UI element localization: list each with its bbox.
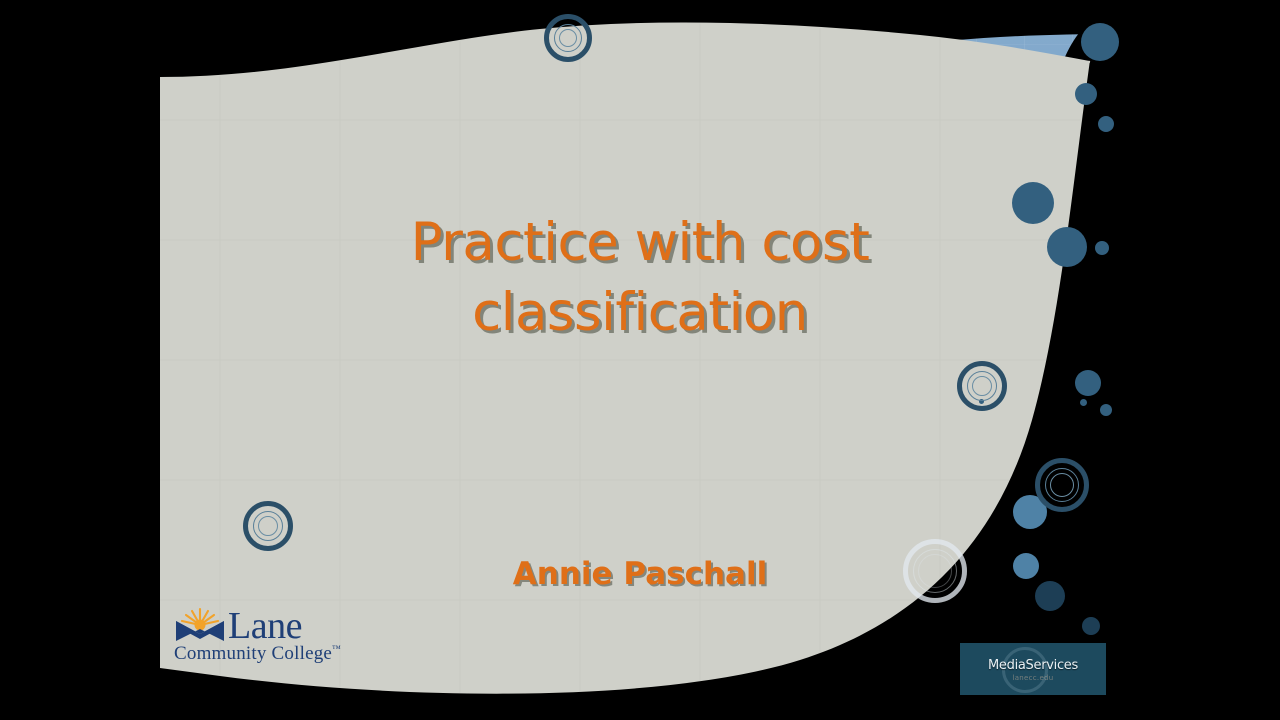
logo-trademark: ™ bbox=[332, 644, 341, 654]
logo-subtext: Community College bbox=[174, 643, 332, 664]
screenshot-viewport: Practice with cost classification Annie … bbox=[0, 0, 1280, 720]
subtitle-block: Annie Paschall bbox=[160, 556, 1120, 592]
title-block: Practice with cost classification bbox=[160, 208, 1120, 349]
logo-top-row: Lane bbox=[174, 605, 389, 645]
logo-wordmark: Lane bbox=[228, 607, 302, 645]
presentation-slide: Practice with cost classification Annie … bbox=[160, 0, 1120, 720]
page-title: Practice with cost classification bbox=[160, 208, 1120, 349]
logo-subtext-row: Community College™ bbox=[174, 643, 389, 665]
media-services-watermark: MediaServices lanecc.edu bbox=[960, 643, 1106, 695]
book-sunburst-icon bbox=[174, 607, 226, 645]
watermark-text: MediaServices bbox=[960, 658, 1106, 673]
lane-community-college-logo: Lane Community College™ bbox=[174, 605, 389, 665]
watermark-subtext: lanecc.edu bbox=[960, 674, 1106, 682]
letterbox-right bbox=[1120, 0, 1280, 720]
letterbox-left bbox=[0, 0, 160, 720]
presenter-name: Annie Paschall bbox=[160, 556, 1120, 592]
